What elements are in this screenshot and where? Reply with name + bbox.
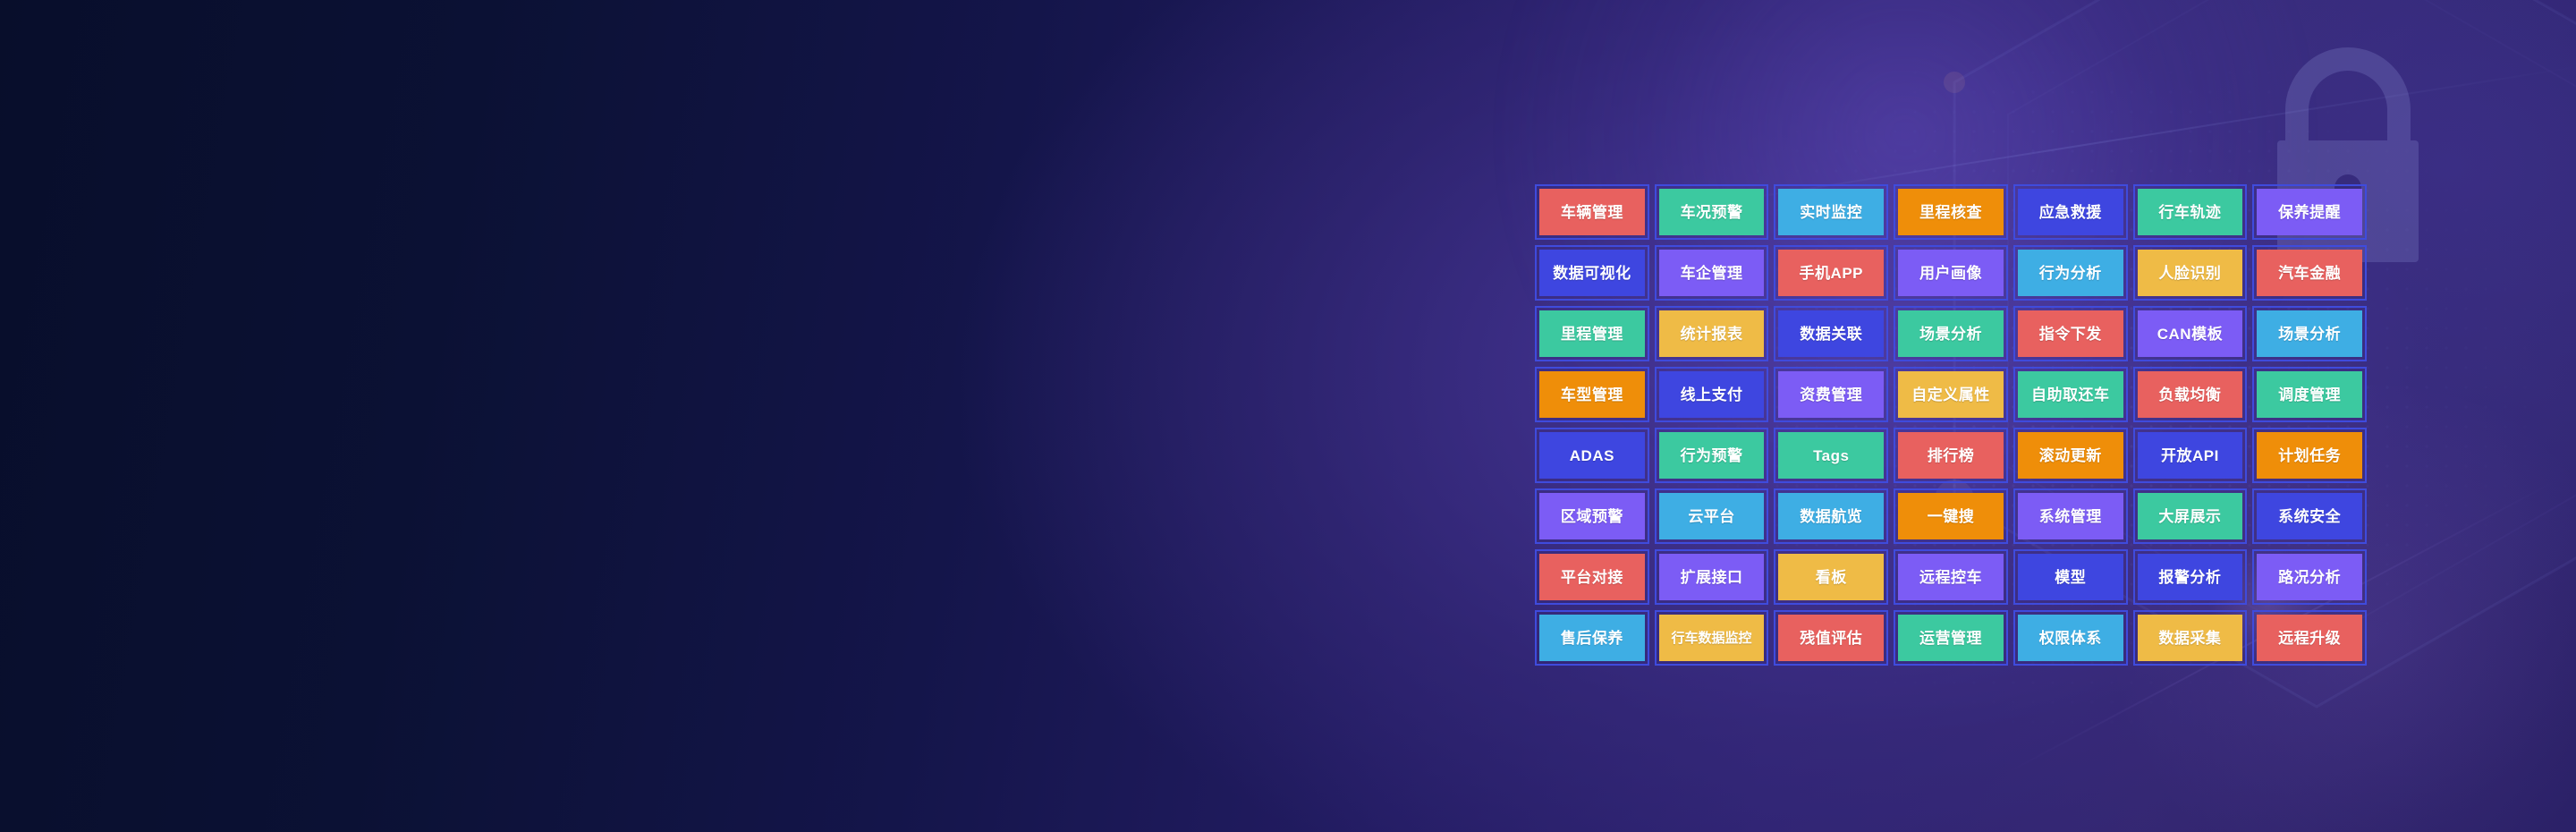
feature-tile[interactable]: 数据采集 [2133,610,2248,666]
feature-tile-swatch: 线上支付 [1659,371,1765,418]
feature-tile[interactable]: 售后保养 [1535,610,1649,666]
feature-tile-label: 场景分析 [2278,327,2341,342]
feature-tile[interactable]: 行车轨迹 [2133,184,2248,240]
feature-tile[interactable]: 手机APP [1774,245,1888,301]
feature-tile-label: 指令下发 [2039,327,2102,342]
feature-tile-label: 大屏展示 [2158,509,2221,524]
feature-tile-swatch: 场景分析 [1898,310,2004,357]
feature-tile-grid: 车辆管理车况预警实时监控里程核查应急救援行车轨迹保养提醒数据可视化车企管理手机A… [1535,184,2367,666]
feature-tile[interactable]: 负载均衡 [2133,367,2248,422]
feature-tile-label: 远程升级 [2278,631,2341,646]
feature-tile-label: 用户画像 [1919,266,1982,281]
feature-tile-label: 运营管理 [1919,631,1982,646]
feature-tile-label: 扩展接口 [1681,570,1743,585]
feature-tile[interactable]: 车辆管理 [1535,184,1649,240]
feature-tile-swatch: 区域预警 [1539,493,1645,539]
feature-tile-swatch: 应急救援 [2018,189,2123,235]
feature-tile-label: 区域预警 [1561,509,1623,524]
feature-tile-label: 一键搜 [1928,509,1975,524]
feature-tile[interactable]: 车型管理 [1535,367,1649,422]
feature-tile-label: 数据可视化 [1553,266,1631,281]
feature-tile-label: 里程核查 [1919,205,1982,220]
feature-tile[interactable]: 云平台 [1655,488,1769,544]
feature-tile-label: 看板 [1816,570,1847,585]
feature-tile[interactable]: ADAS [1535,428,1649,483]
feature-tile[interactable]: 区域预警 [1535,488,1649,544]
feature-tile[interactable]: 数据关联 [1774,306,1888,361]
feature-tile[interactable]: 数据可视化 [1535,245,1649,301]
feature-tile[interactable]: 里程核查 [1894,184,2008,240]
feature-tile-swatch: 远程控车 [1898,554,2004,600]
feature-tile-label: 系统管理 [2039,509,2102,524]
feature-tile-swatch: 远程升级 [2257,615,2362,661]
feature-tile[interactable]: 汽车金融 [2252,245,2367,301]
feature-tile[interactable]: 资费管理 [1774,367,1888,422]
feature-tile[interactable]: 自定义属性 [1894,367,2008,422]
feature-tile-swatch: 里程管理 [1539,310,1645,357]
feature-tile[interactable]: 远程控车 [1894,549,2008,605]
feature-tile-swatch: 看板 [1778,554,1884,600]
feature-tile[interactable]: Tags [1774,428,1888,483]
feature-tile-swatch: 排行榜 [1898,432,2004,479]
feature-tile[interactable]: 场景分析 [1894,306,2008,361]
feature-tile-label: 平台对接 [1561,570,1623,585]
feature-tile[interactable]: 计划任务 [2252,428,2367,483]
feature-tile-swatch: ADAS [1539,432,1645,479]
feature-tile-swatch: 行车数据监控 [1659,615,1765,661]
feature-tile[interactable]: 路况分析 [2252,549,2367,605]
feature-tile-label: 行为预警 [1681,448,1743,463]
feature-tile-label: 报警分析 [2158,570,2221,585]
feature-tile-swatch: 系统管理 [2018,493,2123,539]
feature-tile-swatch: 里程核查 [1898,189,2004,235]
feature-tile-swatch: 自助取还车 [2018,371,2123,418]
feature-tile-label: 人脸识别 [2158,266,2221,281]
feature-tile-label: ADAS [1570,448,1614,463]
feature-tile[interactable]: 开放API [2133,428,2248,483]
feature-tile-label: 行为分析 [2039,266,2102,281]
feature-tile[interactable]: 场景分析 [2252,306,2367,361]
feature-tile[interactable]: 行车数据监控 [1655,610,1769,666]
feature-tile[interactable]: 数据航览 [1774,488,1888,544]
feature-tile[interactable]: 一键搜 [1894,488,2008,544]
feature-tile-swatch: 数据关联 [1778,310,1884,357]
feature-tile[interactable]: 报警分析 [2133,549,2248,605]
feature-tile-label: 计划任务 [2278,448,2341,463]
feature-tile[interactable]: 用户画像 [1894,245,2008,301]
feature-tile-label: 资费管理 [1800,387,1862,403]
feature-tile[interactable]: 平台对接 [1535,549,1649,605]
feature-tile-swatch: 负载均衡 [2138,371,2243,418]
feature-tile-label: 车况预警 [1681,205,1743,220]
feature-tile-swatch: 计划任务 [2257,432,2362,479]
feature-tile[interactable]: 保养提醒 [2252,184,2367,240]
feature-tile-label: 数据关联 [1800,327,1862,342]
feature-tile-swatch: 报警分析 [2138,554,2243,600]
feature-tile-swatch: 运营管理 [1898,615,2004,661]
feature-tile-label: 行车轨迹 [2158,205,2221,220]
feature-tile[interactable]: 指令下发 [2013,306,2128,361]
feature-tile-swatch: 用户画像 [1898,250,2004,296]
feature-tile[interactable]: 行为分析 [2013,245,2128,301]
feature-tile-label: 统计报表 [1681,327,1743,342]
feature-tile-label: 模型 [2055,570,2086,585]
feature-tile-swatch: 路况分析 [2257,554,2362,600]
feature-tile[interactable]: 应急救援 [2013,184,2128,240]
feature-tile-swatch: 自定义属性 [1898,371,2004,418]
feature-tile[interactable]: 模型 [2013,549,2128,605]
feature-tile[interactable]: 人脸识别 [2133,245,2248,301]
feature-tile-label: 数据采集 [2158,631,2221,646]
feature-tile-swatch: 调度管理 [2257,371,2362,418]
feature-tile-label: 线上支付 [1681,387,1743,403]
feature-tile[interactable]: 调度管理 [2252,367,2367,422]
feature-tile-swatch: 车企管理 [1659,250,1765,296]
feature-tile-swatch: 行为预警 [1659,432,1765,479]
feature-tile-swatch: 车型管理 [1539,371,1645,418]
feature-tile[interactable]: 统计报表 [1655,306,1769,361]
feature-tile[interactable]: 看板 [1774,549,1888,605]
feature-tile-label: 残值评估 [1800,631,1862,646]
feature-tile-swatch: 数据采集 [2138,615,2243,661]
feature-tile-label: 滚动更新 [2039,448,2102,463]
feature-tile-label: 应急救援 [2039,205,2102,220]
feature-tile[interactable]: 实时监控 [1774,184,1888,240]
feature-tile-swatch: 车况预警 [1659,189,1765,235]
feature-tile-label: CAN模板 [2157,327,2223,342]
feature-tile-swatch: 模型 [2018,554,2123,600]
feature-tile-swatch: 残值评估 [1778,615,1884,661]
feature-tile-label: 负载均衡 [2158,387,2221,403]
feature-tile[interactable]: 线上支付 [1655,367,1769,422]
feature-tile-swatch: 云平台 [1659,493,1765,539]
feature-tile-swatch: 行为分析 [2018,250,2123,296]
feature-tile-label: 数据航览 [1800,509,1862,524]
feature-tile[interactable]: 自助取还车 [2013,367,2128,422]
feature-tile-swatch: 指令下发 [2018,310,2123,357]
feature-tile-swatch: 数据可视化 [1539,250,1645,296]
feature-tile-swatch: 资费管理 [1778,371,1884,418]
feature-tile[interactable]: 扩展接口 [1655,549,1769,605]
feature-tile-label: 权限体系 [2039,631,2102,646]
feature-tile-swatch: 一键搜 [1898,493,2004,539]
feature-tile[interactable]: 远程升级 [2252,610,2367,666]
feature-tile-label: 云平台 [1688,509,1735,524]
feature-tile-label: 自助取还车 [2031,387,2110,403]
feature-tile[interactable]: 车况预警 [1655,184,1769,240]
feature-tile-swatch: 权限体系 [2018,615,2123,661]
feature-tile[interactable]: 权限体系 [2013,610,2128,666]
feature-tile-label: Tags [1813,448,1849,463]
feature-tile-swatch: 保养提醒 [2257,189,2362,235]
feature-tile-swatch: Tags [1778,432,1884,479]
feature-tile-label: 里程管理 [1561,327,1623,342]
feature-tile-label: 汽车金融 [2278,266,2341,281]
feature-tile[interactable]: 残值评估 [1774,610,1888,666]
feature-tile-label: 售后保养 [1561,631,1623,646]
feature-tile-swatch: 大屏展示 [2138,493,2243,539]
feature-tile[interactable]: 系统管理 [2013,488,2128,544]
feature-tile[interactable]: 运营管理 [1894,610,2008,666]
feature-tile[interactable]: CAN模板 [2133,306,2248,361]
feature-tile-swatch: 手机APP [1778,250,1884,296]
page-root: 车辆管理车况预警实时监控里程核查应急救援行车轨迹保养提醒数据可视化车企管理手机A… [0,0,2576,832]
feature-tile[interactable]: 里程管理 [1535,306,1649,361]
feature-tile-label: 调度管理 [2278,387,2341,403]
feature-tile[interactable]: 排行榜 [1894,428,2008,483]
feature-tile-swatch: 汽车金融 [2257,250,2362,296]
feature-tile-swatch: 统计报表 [1659,310,1765,357]
feature-tile-swatch: 行车轨迹 [2138,189,2243,235]
feature-tile-swatch: 车辆管理 [1539,189,1645,235]
feature-tile-swatch: 平台对接 [1539,554,1645,600]
feature-tile-label: 系统安全 [2278,509,2341,524]
feature-tile-label: 场景分析 [1919,327,1982,342]
feature-tile-label: 自定义属性 [1911,387,1990,403]
feature-tile-label: 车辆管理 [1561,205,1623,220]
feature-tile-swatch: 售后保养 [1539,615,1645,661]
feature-tile[interactable]: 大屏展示 [2133,488,2248,544]
feature-tile-label: 排行榜 [1928,448,1975,463]
feature-tile-label: 行车数据监控 [1672,632,1752,645]
feature-tile-label: 保养提醒 [2278,205,2341,220]
feature-tile-label: 车企管理 [1681,266,1743,281]
feature-tile-swatch: 人脸识别 [2138,250,2243,296]
feature-tile[interactable]: 车企管理 [1655,245,1769,301]
feature-tile-label: 远程控车 [1919,570,1982,585]
feature-tile-swatch: 实时监控 [1778,189,1884,235]
feature-tile-label: 实时监控 [1800,205,1862,220]
feature-tile[interactable]: 滚动更新 [2013,428,2128,483]
feature-tile-swatch: CAN模板 [2138,310,2243,357]
feature-tile-label: 车型管理 [1561,387,1623,403]
feature-tile-swatch: 滚动更新 [2018,432,2123,479]
feature-tile-label: 手机APP [1800,266,1863,281]
feature-tile[interactable]: 系统安全 [2252,488,2367,544]
feature-tile-label: 开放API [2161,448,2219,463]
feature-tile[interactable]: 行为预警 [1655,428,1769,483]
feature-tile-swatch: 系统安全 [2257,493,2362,539]
feature-tile-swatch: 开放API [2138,432,2243,479]
feature-tile-swatch: 场景分析 [2257,310,2362,357]
feature-tile-swatch: 扩展接口 [1659,554,1765,600]
feature-tile-swatch: 数据航览 [1778,493,1884,539]
feature-tile-label: 路况分析 [2278,570,2341,585]
